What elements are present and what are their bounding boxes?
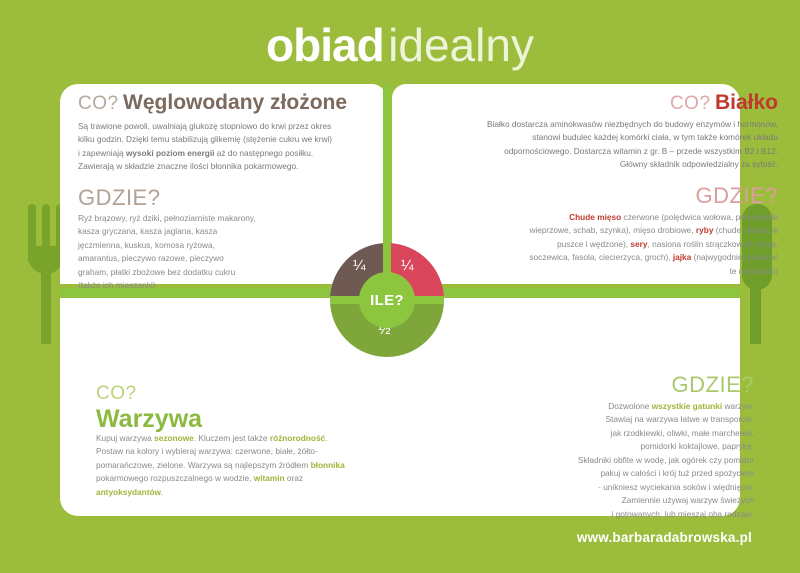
- protein-co-keyword: Białko: [715, 91, 778, 114]
- protein-heading: CO? Białko: [670, 92, 778, 113]
- protein-gdzie-label: GDZIE?: [696, 185, 778, 207]
- carbs-co-label: CO?: [78, 93, 119, 114]
- pie-center-hub: ILE?: [359, 272, 415, 328]
- title-bold-word: obiad: [266, 19, 384, 71]
- protein-gdzie-text: Chude mięso czerwone (polędwica wołowa, …: [528, 211, 778, 278]
- pie-center-label: ILE?: [370, 292, 404, 309]
- vegetables-description: Kupuj warzywa sezonowe. Kluczem jest tak…: [96, 432, 348, 499]
- carbs-co-keyword: Węglowodany złożone: [123, 91, 347, 114]
- vegetables-gdzie-label: GDZIE?: [672, 374, 754, 396]
- carbs-gdzie-text: Ryż brązowy, ryż dziki, pełnoziarniste m…: [78, 212, 256, 293]
- page-title: obiad idealny: [0, 22, 800, 68]
- plate-proportion-pie-chart: ¼ ¼ ½ ILE?: [330, 243, 444, 357]
- pie-label-protein: ¼: [401, 257, 414, 274]
- carbs-gdzie-label: GDZIE?: [78, 187, 160, 209]
- vegetables-heading: CO? Warzywa: [96, 384, 202, 432]
- protein-description: Białko dostarcza aminokwasów niezbędnych…: [478, 118, 778, 172]
- carbs-heading: CO? Węglowodany złożone: [78, 92, 347, 113]
- title-light-word: idealny: [388, 19, 534, 71]
- infographic-canvas: obiad idealny CO? Węglowodany złożone Są…: [0, 0, 800, 573]
- carbs-description: Są trawione powoli, uwalniają glukozę st…: [78, 120, 336, 174]
- vegetables-co-keyword: Warzywa: [96, 406, 202, 432]
- vegetables-gdzie-text: Dozwolone wszystkie gatunki warzyw.Stawi…: [536, 400, 754, 521]
- footer-website-url[interactable]: www.barbaradabrowska.pl: [577, 530, 752, 545]
- pie-label-carbohydrates: ¼: [353, 257, 366, 274]
- protein-co-label: CO?: [670, 93, 711, 114]
- vegetables-co-label: CO?: [96, 384, 202, 404]
